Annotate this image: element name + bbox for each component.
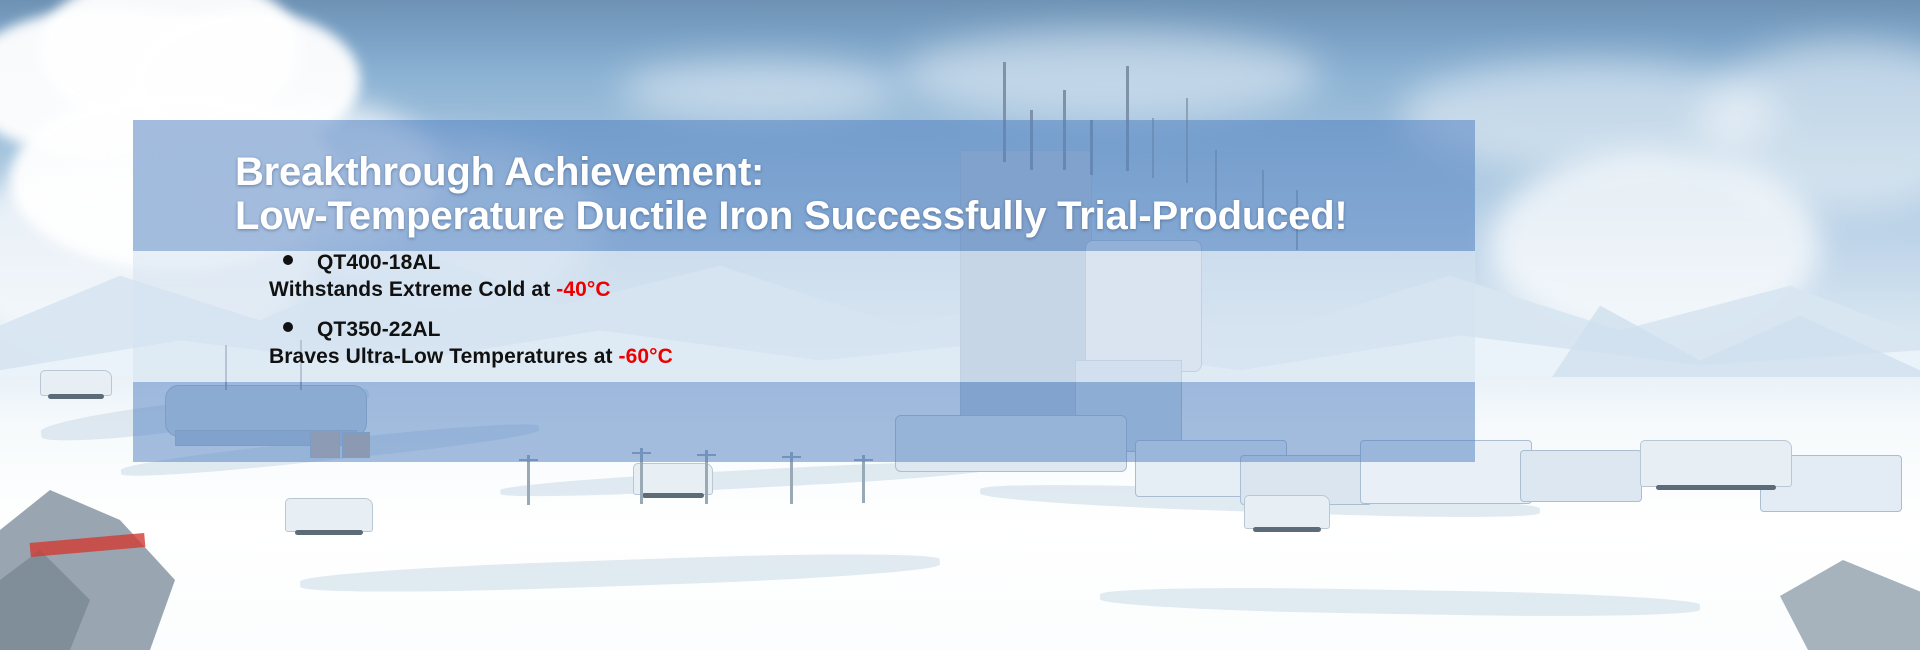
bullet-grade-row: QT400-18AL (283, 251, 1463, 275)
foreground-rock (0, 470, 260, 650)
suv-vehicle (285, 498, 373, 532)
headline: Breakthrough Achievement: Low-Temperatur… (235, 152, 1555, 236)
bullet-list: QT400-18AL Withstands Extreme Cold at -4… (283, 251, 1463, 369)
cloud-shape (620, 60, 900, 120)
headline-line-1: Breakthrough Achievement: (235, 152, 1555, 192)
utility-pole (862, 455, 865, 503)
description-text: Withstands Extreme Cold at (269, 278, 556, 301)
overlay-band-footer (133, 382, 1475, 462)
bullet-item: QT400-18AL Withstands Extreme Cold at -4… (283, 251, 1463, 302)
bullet-dot-icon (283, 322, 293, 332)
cloud-shape (900, 30, 1320, 120)
promo-banner: Breakthrough Achievement: Low-Temperatur… (0, 0, 1920, 650)
material-grade: QT400-18AL (317, 251, 441, 275)
bullet-dot-icon (283, 255, 293, 265)
station-annex (1520, 450, 1642, 502)
material-grade: QT350-22AL (317, 318, 441, 342)
bullet-grade-row: QT350-22AL (283, 318, 1463, 342)
material-description: Braves Ultra-Low Temperatures at -60°C (269, 345, 1463, 369)
content-overlay-panel: Breakthrough Achievement: Low-Temperatur… (133, 120, 1475, 462)
suv-vehicle (1244, 495, 1330, 529)
temperature-value: -40°C (556, 278, 610, 301)
description-text: Braves Ultra-Low Temperatures at (269, 345, 619, 368)
headline-line-2: Low-Temperature Ductile Iron Successfull… (235, 196, 1555, 236)
bullet-item: QT350-22AL Braves Ultra-Low Temperatures… (283, 318, 1463, 369)
suv-vehicle (633, 463, 713, 495)
utility-pole (527, 455, 530, 505)
material-description: Withstands Extreme Cold at -40°C (269, 278, 1463, 302)
snow-vehicle (40, 370, 112, 396)
temperature-value: -60°C (619, 345, 673, 368)
truck-vehicle (1640, 440, 1792, 487)
